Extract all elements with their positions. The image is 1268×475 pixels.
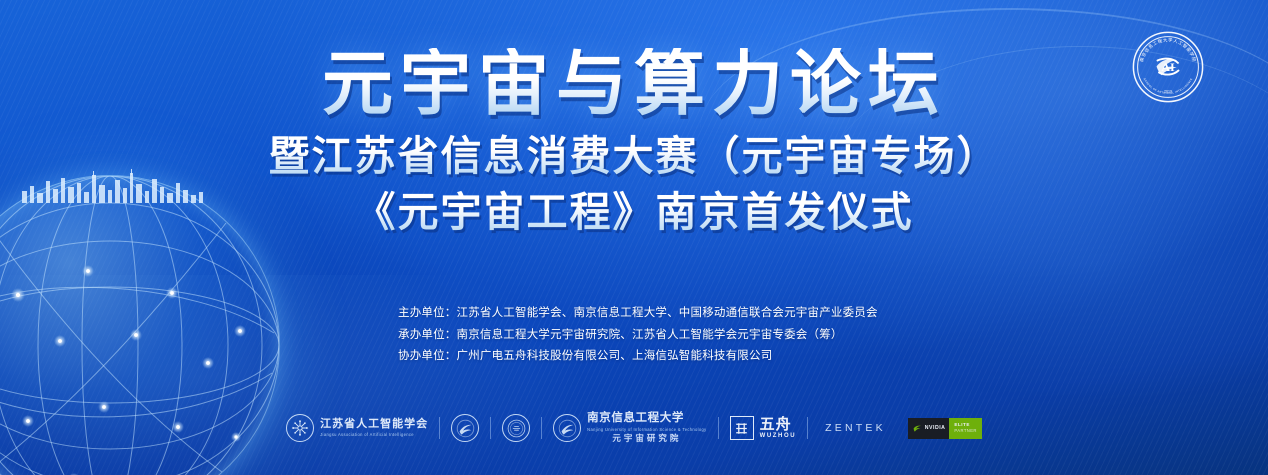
- nuist-institute-cn: 元宇宙研究院: [587, 433, 706, 444]
- page-title: 元宇宙与算力论坛: [0, 48, 1268, 123]
- seal-year: 2019: [1164, 90, 1172, 94]
- wuzhou-name-cn: 五舟: [760, 417, 797, 432]
- sponsor-logo-strip: 江苏省人工智能学会 Jiangsu Association of Artific…: [0, 411, 1268, 445]
- page-subtitle-1: 暨江苏省信息消费大赛（元宇宙专场）: [0, 129, 1268, 183]
- nvidia-name: NVIDIA: [925, 425, 946, 431]
- organizer-line-organizer: 承办单位：南京信息工程大学元宇宙研究院、江苏省人工智能学会元宇宙专委会（筹）: [398, 325, 878, 347]
- nuist-emblem-icon: [553, 414, 581, 442]
- zentek-name-en: ZENTEK: [825, 422, 886, 434]
- seal-monogram: AI: [1161, 60, 1175, 74]
- organizer-line-coorganizer: 协办单位：广州广电五舟科技股份有限公司、上海信弘智能科技有限公司: [398, 346, 878, 368]
- nvidia-logo-block: NVIDIA: [908, 418, 950, 439]
- circular-seal-emblem-icon: [502, 414, 530, 442]
- logo-mark-3: [491, 411, 541, 445]
- logo-nvidia: NVIDIA ELITE PARTNER: [897, 411, 993, 445]
- jsaai-wordmark: 江苏省人工智能学会 Jiangsu Association of Artific…: [320, 418, 428, 438]
- logo-mark-2: [440, 411, 490, 445]
- nvidia-eye-icon: [912, 423, 923, 434]
- university-seal-logo: 南京信息工程大学人工智能学院 SCHOOL OF ARTIFICIAL INTE…: [1132, 31, 1204, 103]
- elite-partner-block: ELITE PARTNER: [949, 418, 981, 439]
- nvidia-elite-partner-badge: NVIDIA ELITE PARTNER: [908, 418, 982, 439]
- nuist-name-en: Nanjing University of Information Scienc…: [587, 426, 706, 433]
- organizer-line-host: 主办单位：江苏省人工智能学会、南京信息工程大学、中国移动通信联合会元宇宙产业委员…: [398, 303, 878, 325]
- cloud-wave-emblem-icon: [451, 414, 479, 442]
- logo-wuzhou: 五舟 WUZHOU: [719, 411, 808, 445]
- nuist-name-cn: 南京信息工程大学: [587, 412, 706, 425]
- logo-zentek: ZENTEK: [808, 411, 897, 445]
- wuzhou-name-en: WUZHOU: [760, 432, 797, 440]
- jsaai-emblem-icon: [286, 414, 314, 442]
- title-block: 元宇宙与算力论坛 暨江苏省信息消费大赛（元宇宙专场） 《元宇宙工程》南京首发仪式: [0, 48, 1268, 239]
- jsaai-name-en: Jiangsu Association of Artificial Intell…: [320, 431, 428, 438]
- wuzhou-emblem-icon: [730, 416, 754, 440]
- wuzhou-wordmark: 五舟 WUZHOU: [760, 417, 797, 440]
- badge-line-2: PARTNER: [954, 428, 976, 434]
- banner-stage: 元宇宙与算力论坛 暨江苏省信息消费大赛（元宇宙专场） 《元宇宙工程》南京首发仪式…: [0, 0, 1268, 475]
- logo-jsaai: 江苏省人工智能学会 Jiangsu Association of Artific…: [275, 411, 439, 445]
- page-subtitle-2: 《元宇宙工程》南京首发仪式: [0, 185, 1268, 239]
- nuist-wordmark: 南京信息工程大学 Nanjing University of Informati…: [587, 412, 706, 444]
- jsaai-name-cn: 江苏省人工智能学会: [320, 418, 428, 430]
- organizer-list: 主办单位：江苏省人工智能学会、南京信息工程大学、中国移动通信联合会元宇宙产业委员…: [398, 303, 878, 368]
- zentek-wordmark: ZENTEK: [825, 422, 886, 434]
- logo-nuist: 南京信息工程大学 Nanjing University of Informati…: [542, 411, 717, 445]
